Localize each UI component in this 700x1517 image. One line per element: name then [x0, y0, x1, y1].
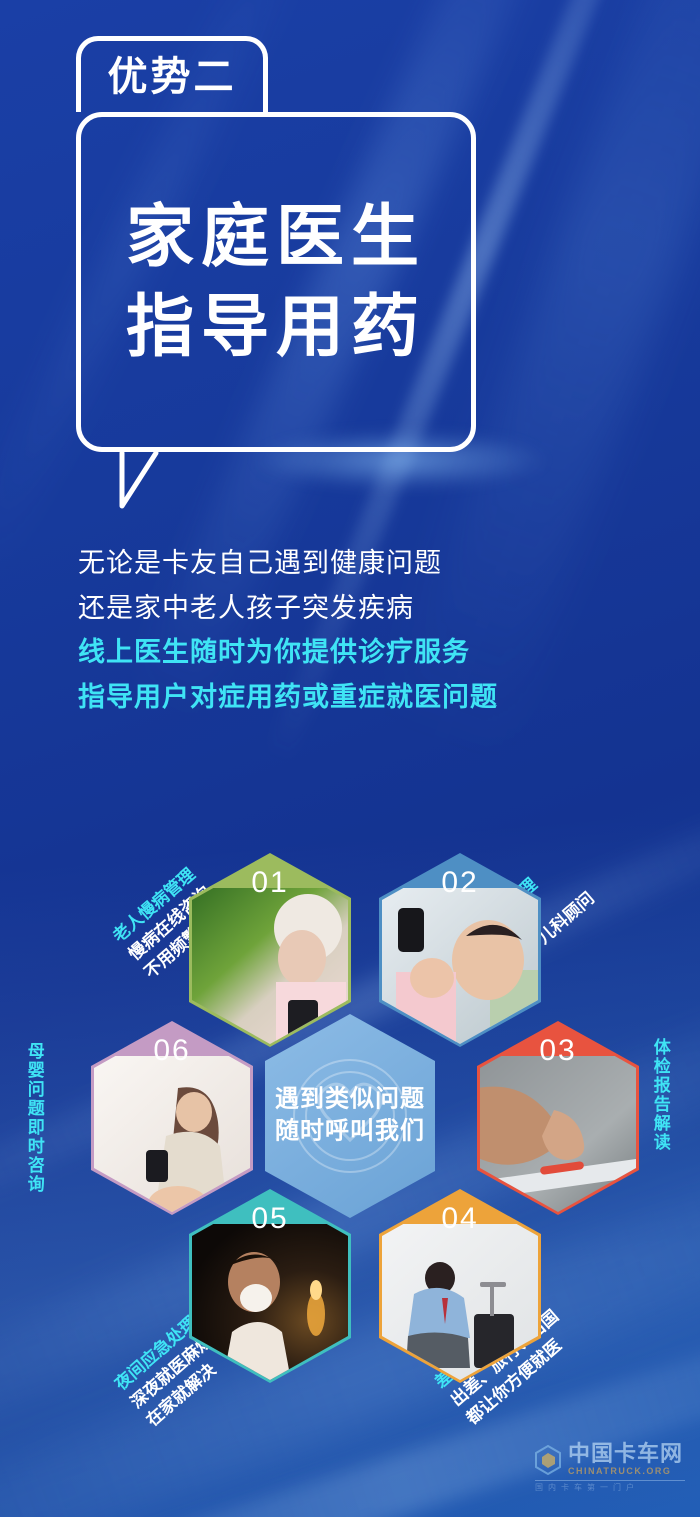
- site-watermark: 中国卡车网 CHINATRUCK.ORG 国内卡车第一门户: [535, 1443, 685, 1499]
- hexagon-caption-06: 母婴问题即时咨询: [24, 1042, 43, 1194]
- hexagon-honeycomb: 老人慢病管理 慢病在线咨询 不用频繁跑医院 宝宝健康护理 宝妈疑问多 需要一个儿…: [0, 830, 700, 1440]
- advantage-badge-label: 优势二: [108, 57, 237, 97]
- title-speech-bubble: 家庭医生 指导用药: [76, 112, 476, 452]
- watermark-tagline: 国内卡车第一门户: [535, 1484, 685, 1492]
- hexagon-card-center[interactable]: 遇到类似问题 随时呼叫我们: [255, 1010, 445, 1222]
- page-title-line-2: 指导用药: [126, 293, 426, 361]
- hexagon-caption-03-title: 体检报告解读: [651, 1038, 670, 1152]
- description-line-2: 还是家中老人孩子突发疾病: [78, 591, 618, 627]
- center-hex-text: 遇到类似问题 随时呼叫我们: [255, 1084, 445, 1149]
- center-hex-line-2: 随时呼叫我们: [255, 1116, 445, 1148]
- watermark-name-cn: 中国卡车网: [568, 1443, 683, 1465]
- page-title-line-1: 家庭医生: [126, 203, 426, 271]
- watermark-divider: [535, 1480, 685, 1481]
- hexagon-caption-03: 体检报告解读: [650, 1038, 669, 1152]
- description-block: 无论是卡友自己遇到健康问题 还是家中老人孩子突发疾病 线上医生随时为你提供诊疗服…: [78, 546, 618, 725]
- hexagon-shape-06: [82, 1018, 262, 1218]
- advantage-badge: 优势二: [76, 36, 268, 112]
- hexagon-caption-06-title: 母婴问题即时咨询: [25, 1042, 44, 1194]
- center-hex-line-1: 遇到类似问题: [255, 1084, 445, 1116]
- description-line-3: 线上医生随时为你提供诊疗服务: [78, 635, 618, 671]
- watermark-name-en: CHINATRUCK.ORG: [568, 1467, 683, 1476]
- description-line-4: 指导用户对症用药或重症就医问题: [78, 680, 618, 716]
- description-line-1: 无论是卡友自己遇到健康问题: [78, 546, 618, 582]
- cube-logo-icon: [535, 1445, 561, 1475]
- poster-root: 优势二 家庭医生 指导用药 无论是卡友自己遇到健康问题 还是家中老人孩子突发疾病…: [0, 0, 700, 1517]
- hexagon-card-06[interactable]: 06: [82, 1018, 262, 1218]
- speech-bubble-tail-icon: [118, 450, 188, 512]
